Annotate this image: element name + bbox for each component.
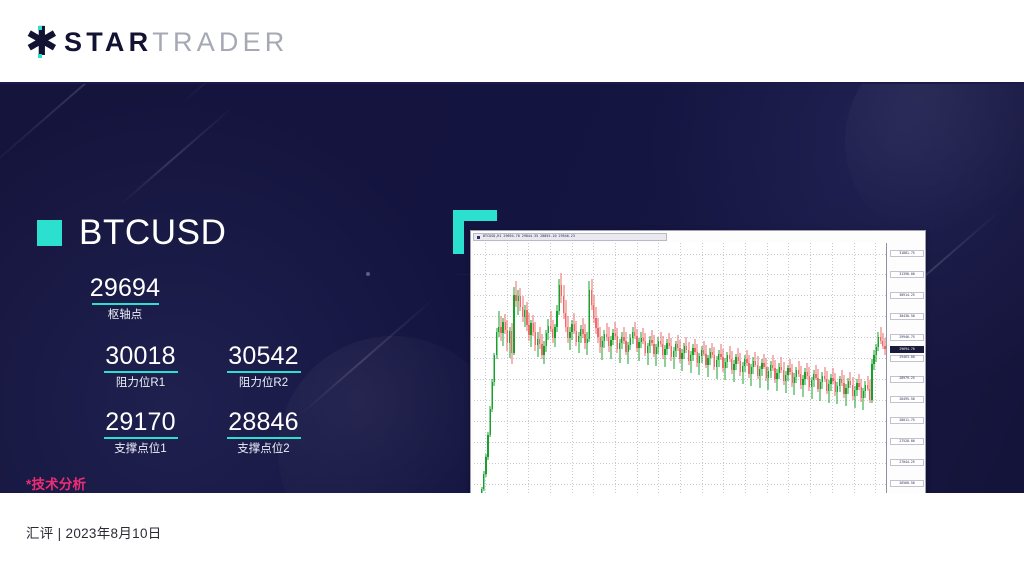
candle: [761, 243, 762, 493]
candle: [563, 243, 564, 493]
level-pivot: 29694 枢轴点: [37, 274, 213, 322]
candle: [828, 243, 829, 493]
candle: [530, 243, 531, 493]
candle: [748, 243, 749, 493]
candle: [738, 243, 739, 493]
hero-panel: BTCUSD 29694 枢轴点 30018 阻力位R1 30542: [0, 84, 1024, 493]
candle: [591, 243, 592, 493]
candle: [643, 243, 644, 493]
candle: [576, 243, 577, 493]
candle: [843, 243, 844, 493]
candle: [686, 243, 687, 493]
candle: [582, 243, 583, 493]
candle: [729, 243, 730, 493]
candle: [753, 243, 754, 493]
price-tick: 29946.75: [890, 334, 924, 341]
candle: [856, 243, 857, 493]
candle: [804, 243, 805, 493]
candle: [494, 243, 495, 493]
candle: [705, 243, 706, 493]
candle: [716, 243, 717, 493]
level-resistance2-label: 阻力位R2: [202, 376, 325, 390]
candle: [839, 243, 840, 493]
candle: [735, 243, 736, 493]
level-resistance1-value: 30018: [79, 342, 202, 370]
candle: [854, 243, 855, 493]
candle: [571, 243, 572, 493]
level-underline: [227, 371, 301, 373]
price-tick: 28979.25: [890, 376, 924, 383]
candle: [677, 243, 678, 493]
slide-root: ✱ STARTRADER BTCUSD 296: [0, 0, 1024, 576]
candle: [845, 243, 846, 493]
candle: [878, 243, 879, 493]
candle: [796, 243, 797, 493]
candle: [569, 243, 570, 493]
candle: [848, 243, 849, 493]
candle: [770, 243, 771, 493]
candle: [505, 243, 506, 493]
candle: [876, 243, 877, 493]
candle: [882, 243, 883, 493]
brand-name-bold: STAR: [64, 27, 152, 57]
candle: [600, 243, 601, 493]
candlestick-series: [474, 243, 886, 493]
level-support1-label: 支撑点位1: [79, 442, 202, 456]
candle: [556, 243, 557, 493]
candle: [789, 243, 790, 493]
candle: [509, 243, 510, 493]
price-tick: 27044.25: [890, 459, 924, 466]
candle: [820, 243, 821, 493]
candle: [537, 243, 538, 493]
candle: [746, 243, 747, 493]
candle: [673, 243, 674, 493]
candle: [477, 243, 478, 493]
chart-price-axis[interactable]: 31881.7531398.0030914.2530430.5029946.75…: [887, 243, 925, 493]
level-support1: 29170 支撑点位1: [79, 408, 202, 456]
page-header: ✱ STARTRADER: [0, 0, 1024, 83]
candle: [800, 243, 801, 493]
candle: [606, 243, 607, 493]
candle: [612, 243, 613, 493]
price-tick: 31881.75: [890, 250, 924, 257]
candle: [766, 243, 767, 493]
price-tick: 30914.25: [890, 292, 924, 299]
candle: [837, 243, 838, 493]
candle: [781, 243, 782, 493]
candle: [865, 243, 866, 493]
level-resistance2: 30542 阻力位R2: [202, 342, 325, 390]
level-underline: [227, 437, 301, 439]
candle: [807, 243, 808, 493]
candle: [731, 243, 732, 493]
candle: [785, 243, 786, 493]
candle: [873, 243, 874, 493]
candle: [787, 243, 788, 493]
candle: [474, 243, 475, 493]
candle: [496, 243, 497, 493]
candle: [869, 243, 870, 493]
candle: [830, 243, 831, 493]
candle: [604, 243, 605, 493]
candle: [520, 243, 521, 493]
chart-window-icon: [477, 236, 480, 239]
brand-name-light: TRADER: [152, 27, 288, 57]
candle: [615, 243, 616, 493]
candle: [863, 243, 864, 493]
candle: [546, 243, 547, 493]
candle: [535, 243, 536, 493]
current-price-tick: 29694.70: [890, 346, 924, 353]
pivot-row: 29694 枢轴点: [37, 274, 372, 322]
candle: [597, 243, 598, 493]
chart-plot-area[interactable]: [474, 243, 887, 493]
brand-logo: ✱ STARTRADER: [25, 27, 289, 57]
candle: [561, 243, 562, 493]
candle: [552, 243, 553, 493]
support-row: 29170 支撑点位1 28846 支撑点位2: [79, 408, 372, 456]
candle: [578, 243, 579, 493]
candle: [684, 243, 685, 493]
candle: [774, 243, 775, 493]
candle: [664, 243, 665, 493]
candle: [584, 243, 585, 493]
candle: [751, 243, 752, 493]
level-support2: 28846 支撑点位2: [202, 408, 325, 456]
candle: [701, 243, 702, 493]
brand-name: STARTRADER: [64, 29, 289, 56]
price-tick: 31398.00: [890, 271, 924, 278]
candle: [634, 243, 635, 493]
candle: [645, 243, 646, 493]
price-tick: 26560.50: [890, 480, 924, 487]
chart-title-text: BTCUSD,H1 29694.70 29844.35 28855.10 295…: [483, 235, 575, 238]
candle: [725, 243, 726, 493]
candle: [518, 243, 519, 493]
candle: [811, 243, 812, 493]
level-support2-value: 28846: [202, 408, 325, 436]
candle: [492, 243, 493, 493]
candle: [666, 243, 667, 493]
candle: [660, 243, 661, 493]
price-tick: 27528.00: [890, 438, 924, 445]
candle: [507, 243, 508, 493]
candle: [656, 243, 657, 493]
candle: [608, 243, 609, 493]
chart-window[interactable]: BTCUSD,H1 29694.70 29844.35 28855.10 295…: [470, 230, 926, 493]
candle: [522, 243, 523, 493]
candle: [718, 243, 719, 493]
candle: [479, 243, 480, 493]
candle: [714, 243, 715, 493]
level-underline: [104, 371, 178, 373]
candle: [559, 243, 560, 493]
candle: [742, 243, 743, 493]
level-resistance1-label: 阻力位R1: [79, 376, 202, 390]
pivot-levels: 29694 枢轴点 30018 阻力位R1 30542 阻力位R2: [37, 274, 372, 456]
candle: [513, 243, 514, 493]
candle: [744, 243, 745, 493]
candle: [776, 243, 777, 493]
candle: [485, 243, 486, 493]
level-resistance2-value: 30542: [202, 342, 325, 370]
candle: [707, 243, 708, 493]
candle: [587, 243, 588, 493]
candle: [483, 243, 484, 493]
candle: [548, 243, 549, 493]
candle: [798, 243, 799, 493]
candle: [817, 243, 818, 493]
candle: [567, 243, 568, 493]
candle: [610, 243, 611, 493]
candle: [524, 243, 525, 493]
candle: [589, 243, 590, 493]
candle: [699, 243, 700, 493]
candle: [727, 243, 728, 493]
candle: [539, 243, 540, 493]
level-underline: [92, 303, 159, 305]
candle: [565, 243, 566, 493]
candle: [779, 243, 780, 493]
analysis-heading: *技术分析: [26, 473, 386, 493]
symbol-title: BTCUSD: [79, 215, 227, 250]
title-accent-chip: [37, 220, 62, 246]
technical-analysis: *技术分析 多头持仓在枢轴点以上，目标位为阻力位R1及阻力位R2。 若低于枢轴点…: [26, 473, 386, 493]
candle: [554, 243, 555, 493]
candle: [593, 243, 594, 493]
candle: [880, 243, 881, 493]
candle: [822, 243, 823, 493]
candle: [543, 243, 544, 493]
candle: [679, 243, 680, 493]
candle: [826, 243, 827, 493]
candle: [481, 243, 482, 493]
candle: [884, 243, 885, 493]
candle: [515, 243, 516, 493]
candle: [681, 243, 682, 493]
candle: [858, 243, 859, 493]
candle: [783, 243, 784, 493]
candle: [841, 243, 842, 493]
candle: [740, 243, 741, 493]
candle: [641, 243, 642, 493]
level-underline: [104, 437, 178, 439]
candle: [621, 243, 622, 493]
candle: [628, 243, 629, 493]
candle: [802, 243, 803, 493]
price-tick: 28495.50: [890, 396, 924, 403]
candle: [835, 243, 836, 493]
candle: [487, 243, 488, 493]
candle: [815, 243, 816, 493]
price-tick: 28011.75: [890, 417, 924, 424]
candle: [690, 243, 691, 493]
page-title: BTCUSD: [37, 215, 227, 250]
candle: [772, 243, 773, 493]
candle: [763, 243, 764, 493]
candle: [630, 243, 631, 493]
candle: [720, 243, 721, 493]
candle: [500, 243, 501, 493]
candle: [712, 243, 713, 493]
candle: [649, 243, 650, 493]
candle: [697, 243, 698, 493]
candle: [710, 243, 711, 493]
candle: [526, 243, 527, 493]
candle: [623, 243, 624, 493]
candle: [625, 243, 626, 493]
candle: [867, 243, 868, 493]
candle: [694, 243, 695, 493]
candle: [809, 243, 810, 493]
candle: [852, 243, 853, 493]
candle: [688, 243, 689, 493]
candle: [861, 243, 862, 493]
candle: [733, 243, 734, 493]
candle: [490, 243, 491, 493]
chart-title-bar: BTCUSD,H1 29694.70 29844.35 28855.10 295…: [473, 233, 667, 241]
candle: [602, 243, 603, 493]
level-support2-label: 支撑点位2: [202, 442, 325, 456]
candle: [871, 243, 872, 493]
candle: [755, 243, 756, 493]
candle: [669, 243, 670, 493]
candle: [722, 243, 723, 493]
candle: [528, 243, 529, 493]
candle: [541, 243, 542, 493]
candle: [636, 243, 637, 493]
resistance-row: 30018 阻力位R1 30542 阻力位R2: [79, 342, 372, 390]
level-pivot-value: 29694: [37, 274, 213, 302]
candle: [574, 243, 575, 493]
candle: [653, 243, 654, 493]
candle: [647, 243, 648, 493]
candle: [662, 243, 663, 493]
candle: [792, 243, 793, 493]
level-resistance1: 30018 阻力位R1: [79, 342, 202, 390]
candle: [632, 243, 633, 493]
candle: [757, 243, 758, 493]
candle: [850, 243, 851, 493]
candle: [658, 243, 659, 493]
candle: [550, 243, 551, 493]
candle: [595, 243, 596, 493]
footer-caption: 汇评 | 2023年8月10日: [26, 522, 162, 542]
price-tick: 29463.00: [890, 355, 924, 362]
price-tick: 30430.50: [890, 313, 924, 320]
page-footer: 汇评 | 2023年8月10日: [0, 493, 1024, 576]
candle: [824, 243, 825, 493]
candle: [671, 243, 672, 493]
candle: [813, 243, 814, 493]
candle: [675, 243, 676, 493]
candle: [703, 243, 704, 493]
asterisk-star-icon: ✱: [25, 27, 55, 57]
level-pivot-label: 枢轴点: [37, 308, 213, 322]
candle: [832, 243, 833, 493]
candle: [617, 243, 618, 493]
candle: [498, 243, 499, 493]
candle: [651, 243, 652, 493]
candle: [794, 243, 795, 493]
candle: [533, 243, 534, 493]
candle: [619, 243, 620, 493]
level-support1-value: 29170: [79, 408, 202, 436]
candle: [692, 243, 693, 493]
candle: [638, 243, 639, 493]
candle: [768, 243, 769, 493]
candle: [511, 243, 512, 493]
candle: [502, 243, 503, 493]
candle: [580, 243, 581, 493]
candle: [759, 243, 760, 493]
